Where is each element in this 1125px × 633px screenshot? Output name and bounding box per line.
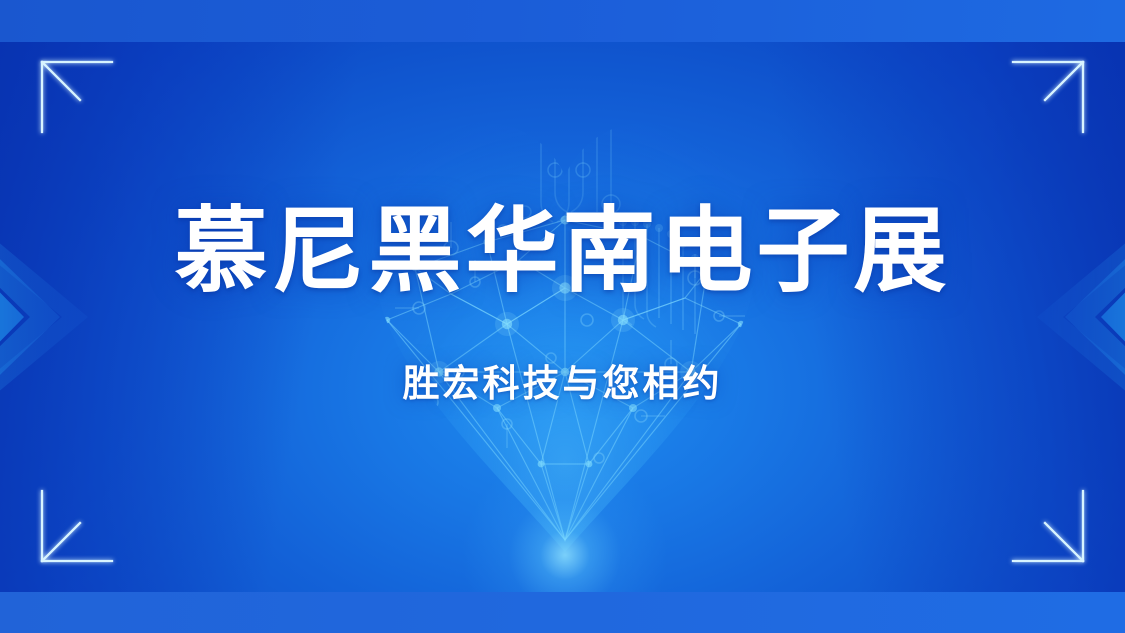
banner-title: 慕尼黑华南电子展 [175, 204, 951, 299]
banner-text-block: 慕尼黑华南电子展 胜宏科技与您相约 [0, 0, 1125, 633]
event-banner: 慕尼黑华南电子展 胜宏科技与您相约 [0, 0, 1125, 633]
banner-subtitle: 胜宏科技与您相约 [403, 353, 723, 407]
